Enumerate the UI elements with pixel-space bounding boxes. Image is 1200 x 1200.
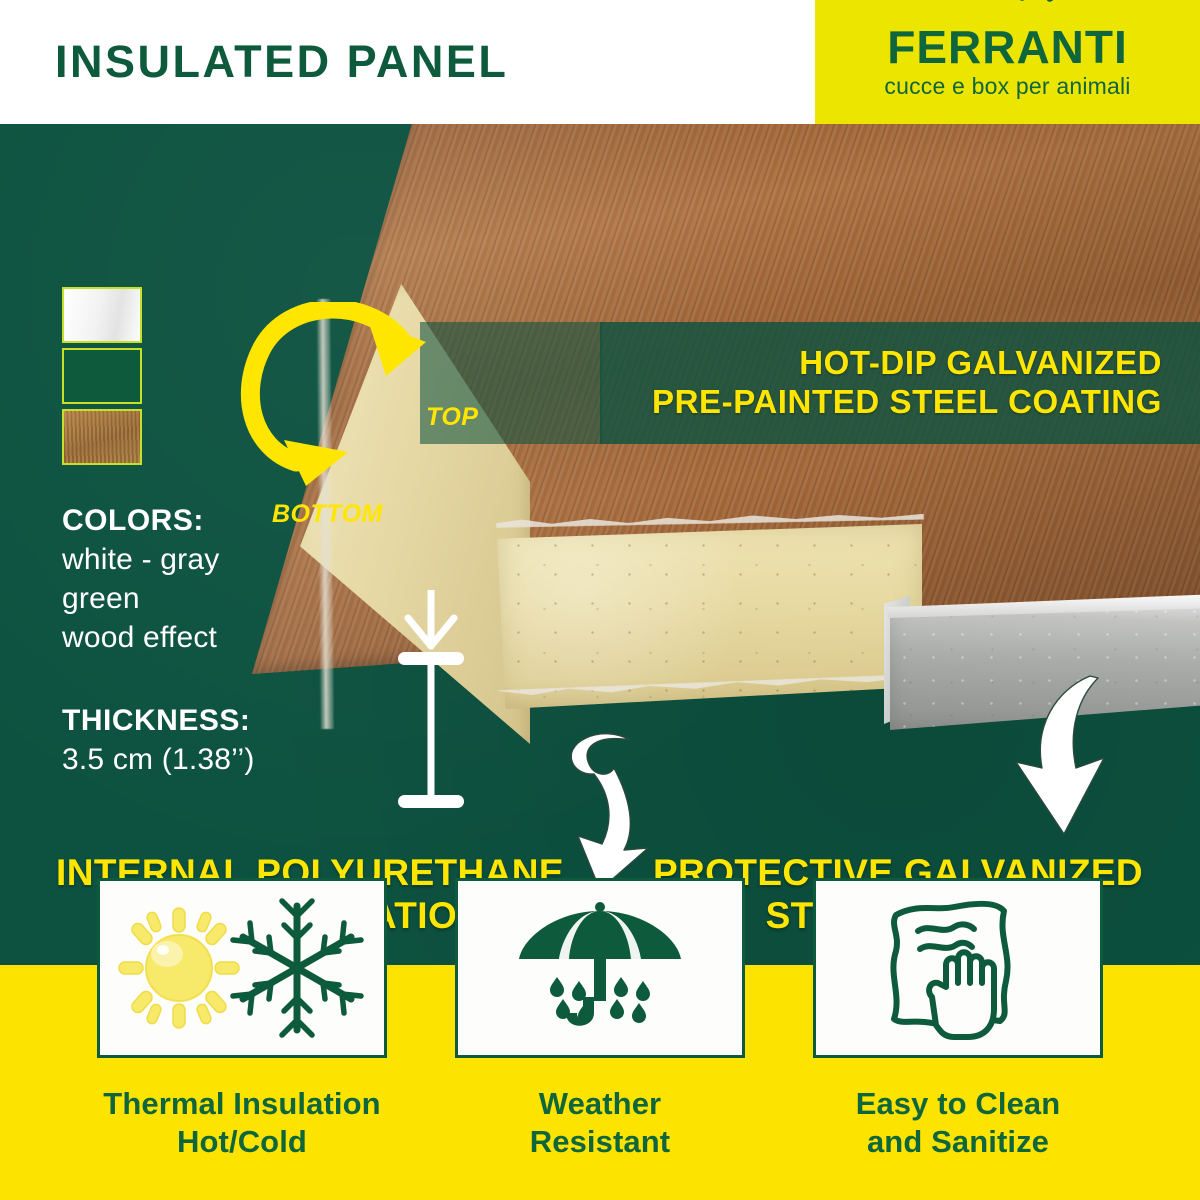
frame-callout-arrow-icon (998, 672, 1128, 837)
logo-wordmark: FERRANTI (887, 24, 1128, 70)
brand-logo: FERRANTI cucce e box per animali (815, 0, 1200, 124)
panel-label-top: TOP (426, 403, 478, 432)
colors-value-3: wood effect (62, 618, 219, 657)
colors-spec: COLORS: white - gray green wood effect (62, 502, 219, 657)
coating-callout-line-1: HOT-DIP GALVANIZED (799, 345, 1162, 382)
sun-and-snowflake-icon (117, 898, 367, 1038)
product-photo-stage: HOT-DIP GALVANIZED PRE-PAINTED STEEL COA… (0, 124, 1200, 965)
colors-value-2: green (62, 579, 219, 618)
caption-weather-line-2: Resistant (455, 1123, 745, 1161)
swatch-white-gray[interactable] (62, 287, 142, 343)
feature-caption-weather: Weather Resistant (455, 1085, 745, 1161)
feature-card-weather[interactable] (455, 878, 745, 1058)
caption-weather-line-1: Weather (455, 1085, 745, 1123)
thickness-measure-indicator (392, 590, 470, 822)
thickness-value: 3.5 cm (1.38’’) (62, 740, 255, 779)
umbrella-with-rain-icon (505, 893, 695, 1043)
swatch-green[interactable] (62, 348, 142, 404)
thickness-label: THICKNESS: (62, 702, 255, 740)
coating-callout-line-2: PRE-PAINTED STEEL COATING (652, 384, 1162, 421)
page-header: INSULATED PANEL FERRANTI cucce e box per… (0, 0, 1200, 124)
colors-value-1: white - gray (62, 540, 219, 579)
color-swatch-list (62, 287, 148, 470)
hand-wiping-cloth-icon (878, 893, 1038, 1043)
feature-caption-thermal: Thermal Insulation Hot/Cold (97, 1085, 387, 1161)
feature-card-clean[interactable] (813, 878, 1103, 1058)
colors-label: COLORS: (62, 502, 219, 540)
feature-caption-clean: Easy to Clean and Sanitize (813, 1085, 1103, 1161)
paw-print-icon (1013, 0, 1057, 7)
panel-label-bottom: BOTTOM (272, 500, 383, 529)
swatch-wood-effect[interactable] (62, 409, 142, 465)
feature-card-list (0, 878, 1200, 1063)
caption-clean-line-2: and Sanitize (813, 1123, 1103, 1161)
caption-thermal-line-1: Thermal Insulation (97, 1085, 387, 1123)
caption-clean-line-1: Easy to Clean (813, 1085, 1103, 1123)
logo-tagline: cucce e box per animali (884, 73, 1130, 100)
thickness-spec: THICKNESS: 3.5 cm (1.38’’) (62, 702, 255, 779)
coating-callout-banner: HOT-DIP GALVANIZED PRE-PAINTED STEEL COA… (600, 322, 1200, 444)
rotation-arrow-icon (240, 302, 440, 487)
caption-thermal-line-2: Hot/Cold (97, 1123, 387, 1161)
feature-caption-list: Thermal Insulation Hot/Cold Weather Resi… (0, 1085, 1200, 1161)
feature-card-thermal[interactable] (97, 878, 387, 1058)
page-title: INSULATED PANEL (0, 0, 815, 124)
